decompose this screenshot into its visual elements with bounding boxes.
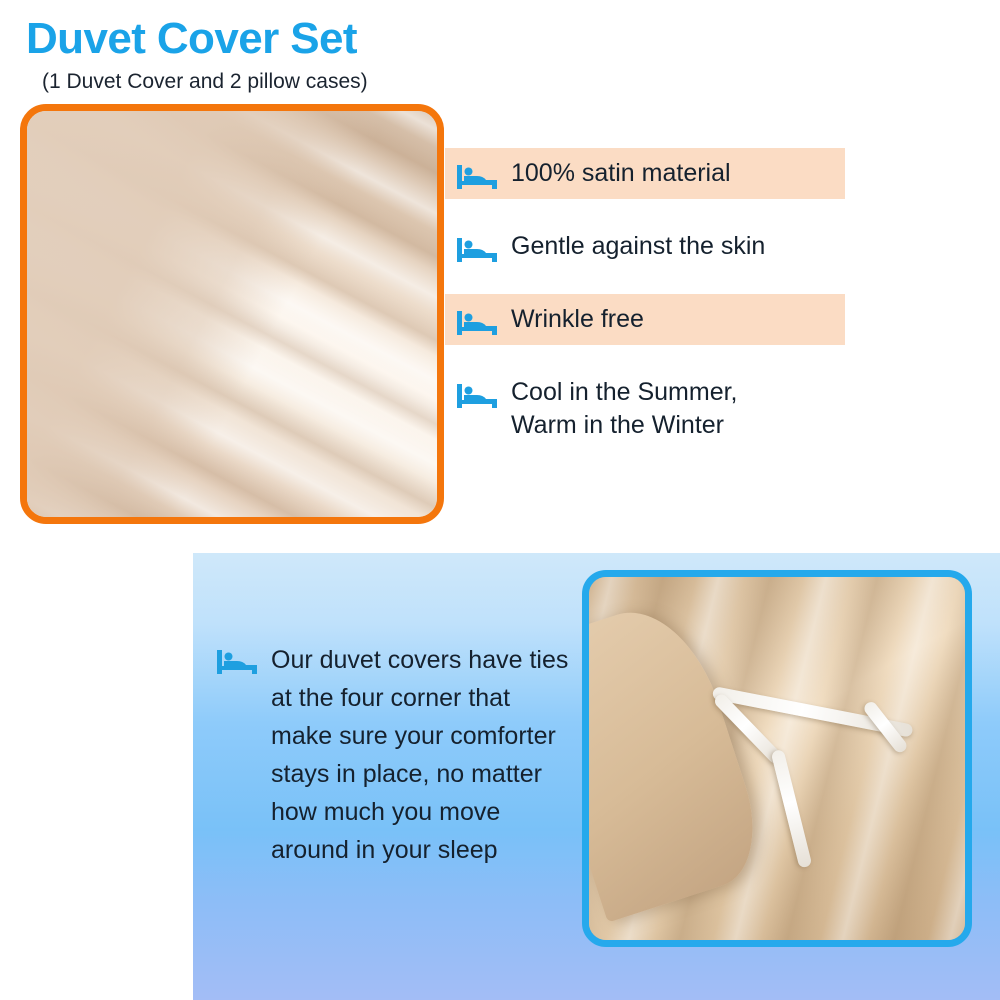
satin-fabric-texture xyxy=(27,111,437,517)
page-subtitle: (1 Duvet Cover and 2 pillow cases) xyxy=(42,70,368,94)
feature-row: Gentle against the skin xyxy=(445,221,965,272)
feature-list: 100% satin material Gentle against the s… xyxy=(445,148,965,473)
ties-text-block: Our duvet covers have ties at the four c… xyxy=(217,641,577,869)
bed-icon xyxy=(457,381,497,409)
feature-row: Cool in the Summer, Warm in the Winter xyxy=(445,367,965,451)
feature-label: Wrinkle free xyxy=(511,303,644,336)
page-title: Duvet Cover Set xyxy=(26,16,357,62)
ties-section: Our duvet covers have ties at the four c… xyxy=(193,553,1000,1000)
feature-row: Wrinkle free xyxy=(445,294,845,345)
bed-icon xyxy=(457,235,497,263)
bed-icon xyxy=(217,647,257,675)
satin-fabric-photo xyxy=(20,104,444,524)
ties-description: Our duvet covers have ties at the four c… xyxy=(271,641,577,869)
feature-row: 100% satin material xyxy=(445,148,845,199)
bed-icon xyxy=(457,308,497,336)
duvet-corner-ties-photo xyxy=(582,570,972,947)
feature-label: 100% satin material xyxy=(511,157,731,190)
feature-label: Cool in the Summer, Warm in the Winter xyxy=(511,376,738,442)
bed-icon xyxy=(457,162,497,190)
feature-label: Gentle against the skin xyxy=(511,230,765,263)
